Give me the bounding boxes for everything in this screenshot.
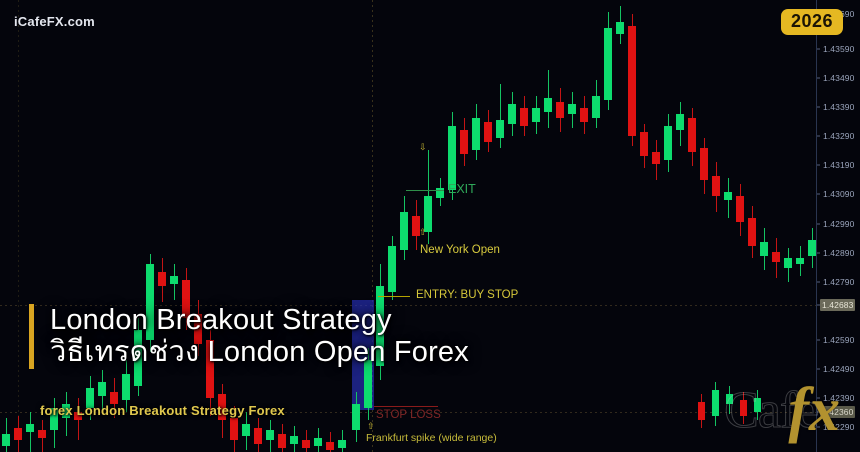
candle-down xyxy=(182,0,190,452)
candle-down xyxy=(254,0,262,452)
candle-down xyxy=(628,0,636,452)
candle-up xyxy=(472,0,480,452)
candle-up xyxy=(754,0,761,452)
candle-body xyxy=(290,436,298,444)
candle-body xyxy=(484,122,492,142)
axis-tick xyxy=(817,194,820,195)
candle-body xyxy=(38,430,46,438)
candle-down xyxy=(38,0,46,452)
candle-up xyxy=(726,0,733,452)
candle-body xyxy=(808,240,816,256)
candle-up xyxy=(604,0,612,452)
axis-tick xyxy=(817,282,820,283)
candle-body xyxy=(726,394,733,404)
axis-label: 1.42490 xyxy=(823,364,854,374)
axis-tick xyxy=(817,107,820,108)
candle-down xyxy=(652,0,660,452)
candle-body xyxy=(616,22,624,34)
candle-body xyxy=(158,272,166,286)
candle-up xyxy=(496,0,504,452)
title-line-thai: วิธีเทรดช่วง London Open Forex xyxy=(50,336,469,368)
candle-up xyxy=(712,0,719,452)
candle-body xyxy=(388,246,396,292)
candle-up xyxy=(26,0,34,452)
candle-body xyxy=(676,114,684,130)
candle-body xyxy=(302,440,310,448)
candle-down xyxy=(230,0,238,452)
candle-up xyxy=(122,0,130,452)
candle-down xyxy=(194,0,202,452)
candle-body xyxy=(122,374,130,400)
arrow-up-icon-frankfurt: ⇧ xyxy=(367,422,375,431)
exit-level-line xyxy=(406,190,444,191)
candle-down xyxy=(158,0,166,452)
candle-up xyxy=(338,0,346,452)
candle-down xyxy=(688,0,696,452)
site-brand: iCafeFX.com xyxy=(14,14,95,29)
candle-up xyxy=(400,0,408,452)
axis-tick xyxy=(817,340,820,341)
axis-label: 1.42990 xyxy=(823,219,854,229)
candle-body xyxy=(242,424,250,436)
axis-label: 1.42590 xyxy=(823,335,854,345)
candle-body xyxy=(400,212,408,250)
candle-up xyxy=(290,0,298,452)
price-axis[interactable]: 1.436901.435901.434901.433901.432901.431… xyxy=(816,0,860,452)
candle-body xyxy=(556,102,564,118)
candle-down xyxy=(640,0,648,452)
axis-label: 1.42290 xyxy=(823,422,854,432)
candle-down xyxy=(740,0,747,452)
candle-body xyxy=(266,430,274,440)
axis-tick xyxy=(817,136,820,137)
title-text-group: London Breakout Strategy วิธีเทรดช่วง Lo… xyxy=(50,304,469,369)
axis-label: 1.43190 xyxy=(823,160,854,170)
candle-down xyxy=(74,0,82,452)
candle-down xyxy=(412,0,420,452)
candle-down xyxy=(218,0,226,452)
candle-body xyxy=(604,28,612,100)
stop-loss-label: STOP LOSS xyxy=(376,409,441,421)
candle-body xyxy=(278,434,286,448)
exit-label: EXIT xyxy=(448,182,476,196)
candle-body xyxy=(568,104,576,114)
candle-up xyxy=(568,0,576,452)
title-block: London Breakout Strategy วิธีเทรดช่วง Lo… xyxy=(29,304,469,369)
axis-tick xyxy=(817,165,820,166)
axis-label: 1.43090 xyxy=(823,189,854,199)
candle-body xyxy=(254,428,262,444)
candle-body xyxy=(754,398,761,412)
candle-down xyxy=(580,0,588,452)
candle-wick xyxy=(30,412,31,452)
axis-tick xyxy=(817,369,820,370)
candle-up xyxy=(664,0,672,452)
accent-bar xyxy=(29,304,34,369)
candle-up xyxy=(134,0,142,452)
entry-label: ENTRY: BUY STOP xyxy=(416,289,518,301)
candle-up xyxy=(266,0,274,452)
candle-up xyxy=(676,0,684,452)
arrow-up-icon: ⇧ xyxy=(419,228,427,237)
candle-body xyxy=(14,428,22,440)
candle-up xyxy=(436,0,444,452)
new-york-open-label: New York Open xyxy=(420,244,500,256)
candle-up xyxy=(544,0,552,452)
candle-body xyxy=(772,252,780,262)
candle-up xyxy=(448,0,456,452)
candle-up xyxy=(508,0,516,452)
candle-down xyxy=(484,0,492,452)
candle-up xyxy=(170,0,178,452)
candle-body xyxy=(664,126,672,160)
candle-up xyxy=(146,0,154,452)
candle-body xyxy=(698,402,705,420)
candle-body xyxy=(26,424,34,432)
chart-screenshot: 1.436901.435901.434901.433901.432901.431… xyxy=(0,0,860,452)
candle-down xyxy=(520,0,528,452)
candle-body xyxy=(508,104,516,124)
candle-body xyxy=(740,400,747,416)
candle-up xyxy=(760,0,768,452)
candle-body xyxy=(652,152,660,164)
axis-label-current-price: 1.42360 xyxy=(820,406,855,418)
candle-body xyxy=(760,242,768,256)
candle-down xyxy=(698,0,705,452)
candle-down xyxy=(278,0,286,452)
candle-body xyxy=(520,108,528,126)
candle-body xyxy=(460,130,468,154)
candle-body xyxy=(580,108,588,122)
axis-tick xyxy=(817,427,820,428)
candle-up xyxy=(62,0,70,452)
arrow-down-icon: ⇩ xyxy=(419,143,427,152)
entry-level-line xyxy=(378,296,410,297)
candle-up xyxy=(364,0,372,452)
candle-body xyxy=(784,258,792,268)
candle-down xyxy=(772,0,780,452)
candle-down xyxy=(556,0,564,452)
candle-body xyxy=(640,132,648,156)
candle-body xyxy=(314,438,322,446)
candle-body xyxy=(352,404,360,430)
candle-body xyxy=(544,98,552,112)
candle-body xyxy=(592,96,600,118)
candle-up xyxy=(616,0,624,452)
candle-up xyxy=(388,0,396,452)
axis-tick xyxy=(817,253,820,254)
candle-body xyxy=(98,382,106,396)
candle-body xyxy=(448,126,456,190)
axis-label: 1.43490 xyxy=(823,73,854,83)
candle-body xyxy=(496,120,504,138)
candle-up xyxy=(314,0,322,452)
axis-label: 1.42890 xyxy=(823,248,854,258)
axis-tick xyxy=(817,398,820,399)
candle-up xyxy=(592,0,600,452)
candle-up xyxy=(532,0,540,452)
axis-tick xyxy=(817,49,820,50)
axis-tick xyxy=(817,224,820,225)
candle-up xyxy=(98,0,106,452)
candle-down xyxy=(206,0,214,452)
candle-up xyxy=(796,0,804,452)
candle-up xyxy=(376,0,384,452)
candle-up xyxy=(50,0,58,452)
axis-label: 1.42790 xyxy=(823,277,854,287)
axis-tick xyxy=(817,78,820,79)
axis-label: 1.43290 xyxy=(823,131,854,141)
frankfurt-spike-label: Frankfurt spike (wide range) xyxy=(366,432,497,444)
axis-label-current-price: 1.42683 xyxy=(820,299,855,311)
candle-body xyxy=(688,118,696,152)
candle-down xyxy=(14,0,22,452)
candle-body xyxy=(712,390,719,416)
candle-body xyxy=(472,118,480,150)
axis-label: 1.43390 xyxy=(823,102,854,112)
candle-down xyxy=(460,0,468,452)
candle-down xyxy=(302,0,310,452)
candle-up xyxy=(2,0,10,452)
axis-label: 1.42390 xyxy=(823,393,854,403)
candle-up xyxy=(424,0,432,452)
candle-body xyxy=(326,442,334,450)
candlestick-chart[interactable] xyxy=(0,0,820,452)
candle-body xyxy=(170,276,178,284)
candle-down xyxy=(110,0,118,452)
axis-label: 1.43590 xyxy=(823,44,854,54)
stop-loss-level-line xyxy=(374,406,438,407)
subtitle-keywords: forex London Breakout Strategy Forex xyxy=(40,403,285,418)
candle-up xyxy=(808,0,816,452)
candle-body xyxy=(338,440,346,448)
candle-up xyxy=(86,0,94,452)
candle-body xyxy=(532,108,540,122)
title-line-english: London Breakout Strategy xyxy=(50,304,469,336)
candle-up xyxy=(784,0,792,452)
candle-body xyxy=(230,418,238,440)
candle-up xyxy=(352,0,360,452)
candle-wick xyxy=(500,84,501,148)
candle-body xyxy=(796,258,804,264)
candle-down xyxy=(326,0,334,452)
candle-body xyxy=(628,26,636,136)
candle-body xyxy=(2,434,10,446)
year-badge: 2026 xyxy=(781,9,843,35)
candle-up xyxy=(242,0,250,452)
